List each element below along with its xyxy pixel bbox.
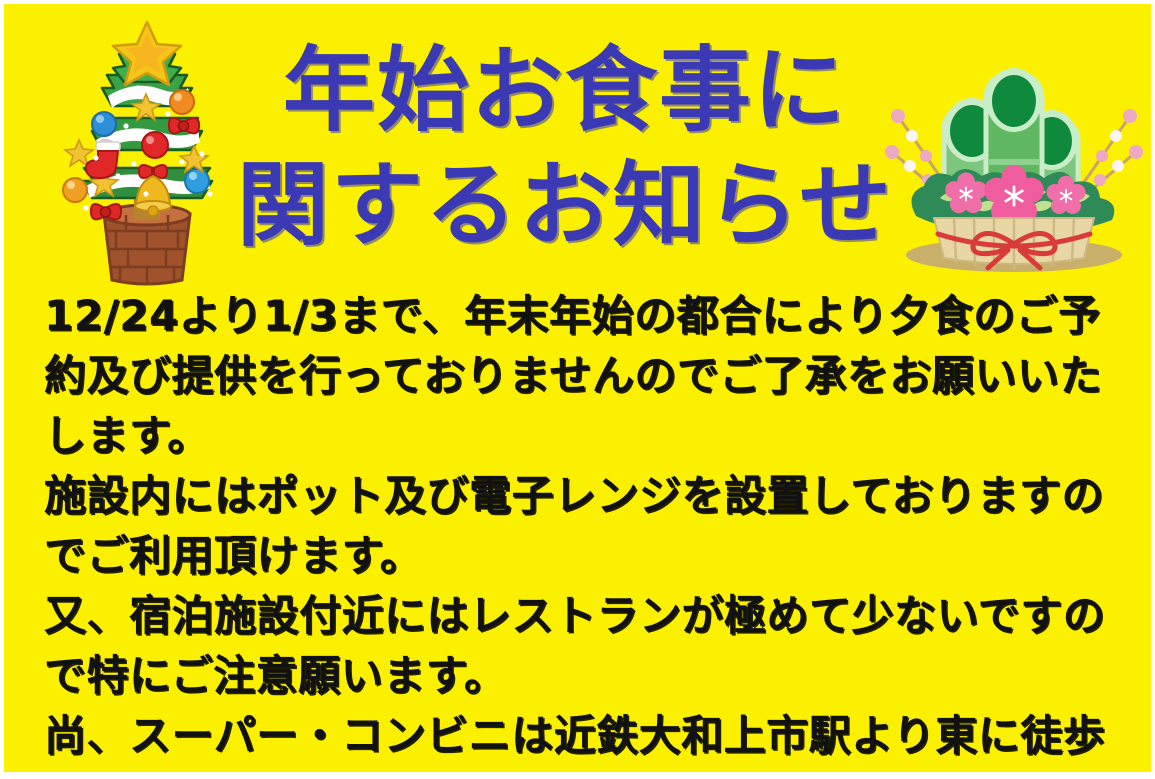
body-paragraph-3: 又、宿泊施設付近にはレストランが極めて少ないですので特にご注意願います。 xyxy=(44,586,1124,706)
announcement-body: 12/24より1/3まで、年末年始の都合により夕食のご予約及び提供を行っておりま… xyxy=(44,286,1124,772)
christmas-tree-icon xyxy=(42,18,252,286)
kadomatsu-icon xyxy=(876,12,1151,288)
page-title: 年始お食事に 関するお知らせ xyxy=(240,22,890,274)
orange-ball-ornament-2 xyxy=(63,178,87,202)
blue-ball-ornament xyxy=(92,112,116,136)
title-line-2: 関するお知らせ xyxy=(237,148,893,263)
blue-ball-ornament-2 xyxy=(185,169,209,193)
red-stocking-ornament xyxy=(86,140,120,178)
poster-canvas: 年始お食事に 関するお知らせ xyxy=(4,4,1151,772)
red-ball-ornament xyxy=(142,132,168,158)
red-bow-ornament xyxy=(169,118,199,133)
red-bow-ornament-2 xyxy=(91,204,121,219)
body-paragraph-1: 12/24より1/3まで、年末年始の都合により夕食のご予約及び提供を行っておりま… xyxy=(44,286,1124,466)
poster-root: 年始お食事に 関するお知らせ xyxy=(0,0,1155,779)
body-paragraph-4: 尚、スーパー・コンビニは近鉄大和上市駅より東に徒歩300mのところにあります。 xyxy=(44,706,1124,772)
poster-header: 年始お食事に 関するお知らせ xyxy=(4,4,1151,286)
gold-bell-ornament xyxy=(135,165,171,216)
body-paragraph-2: 施設内にはポット及び電子レンジを設置しておりますのでご利用頂けます。 xyxy=(44,466,1124,586)
orange-ball-ornament xyxy=(170,90,194,114)
title-line-1: 年始お食事に xyxy=(283,33,847,148)
